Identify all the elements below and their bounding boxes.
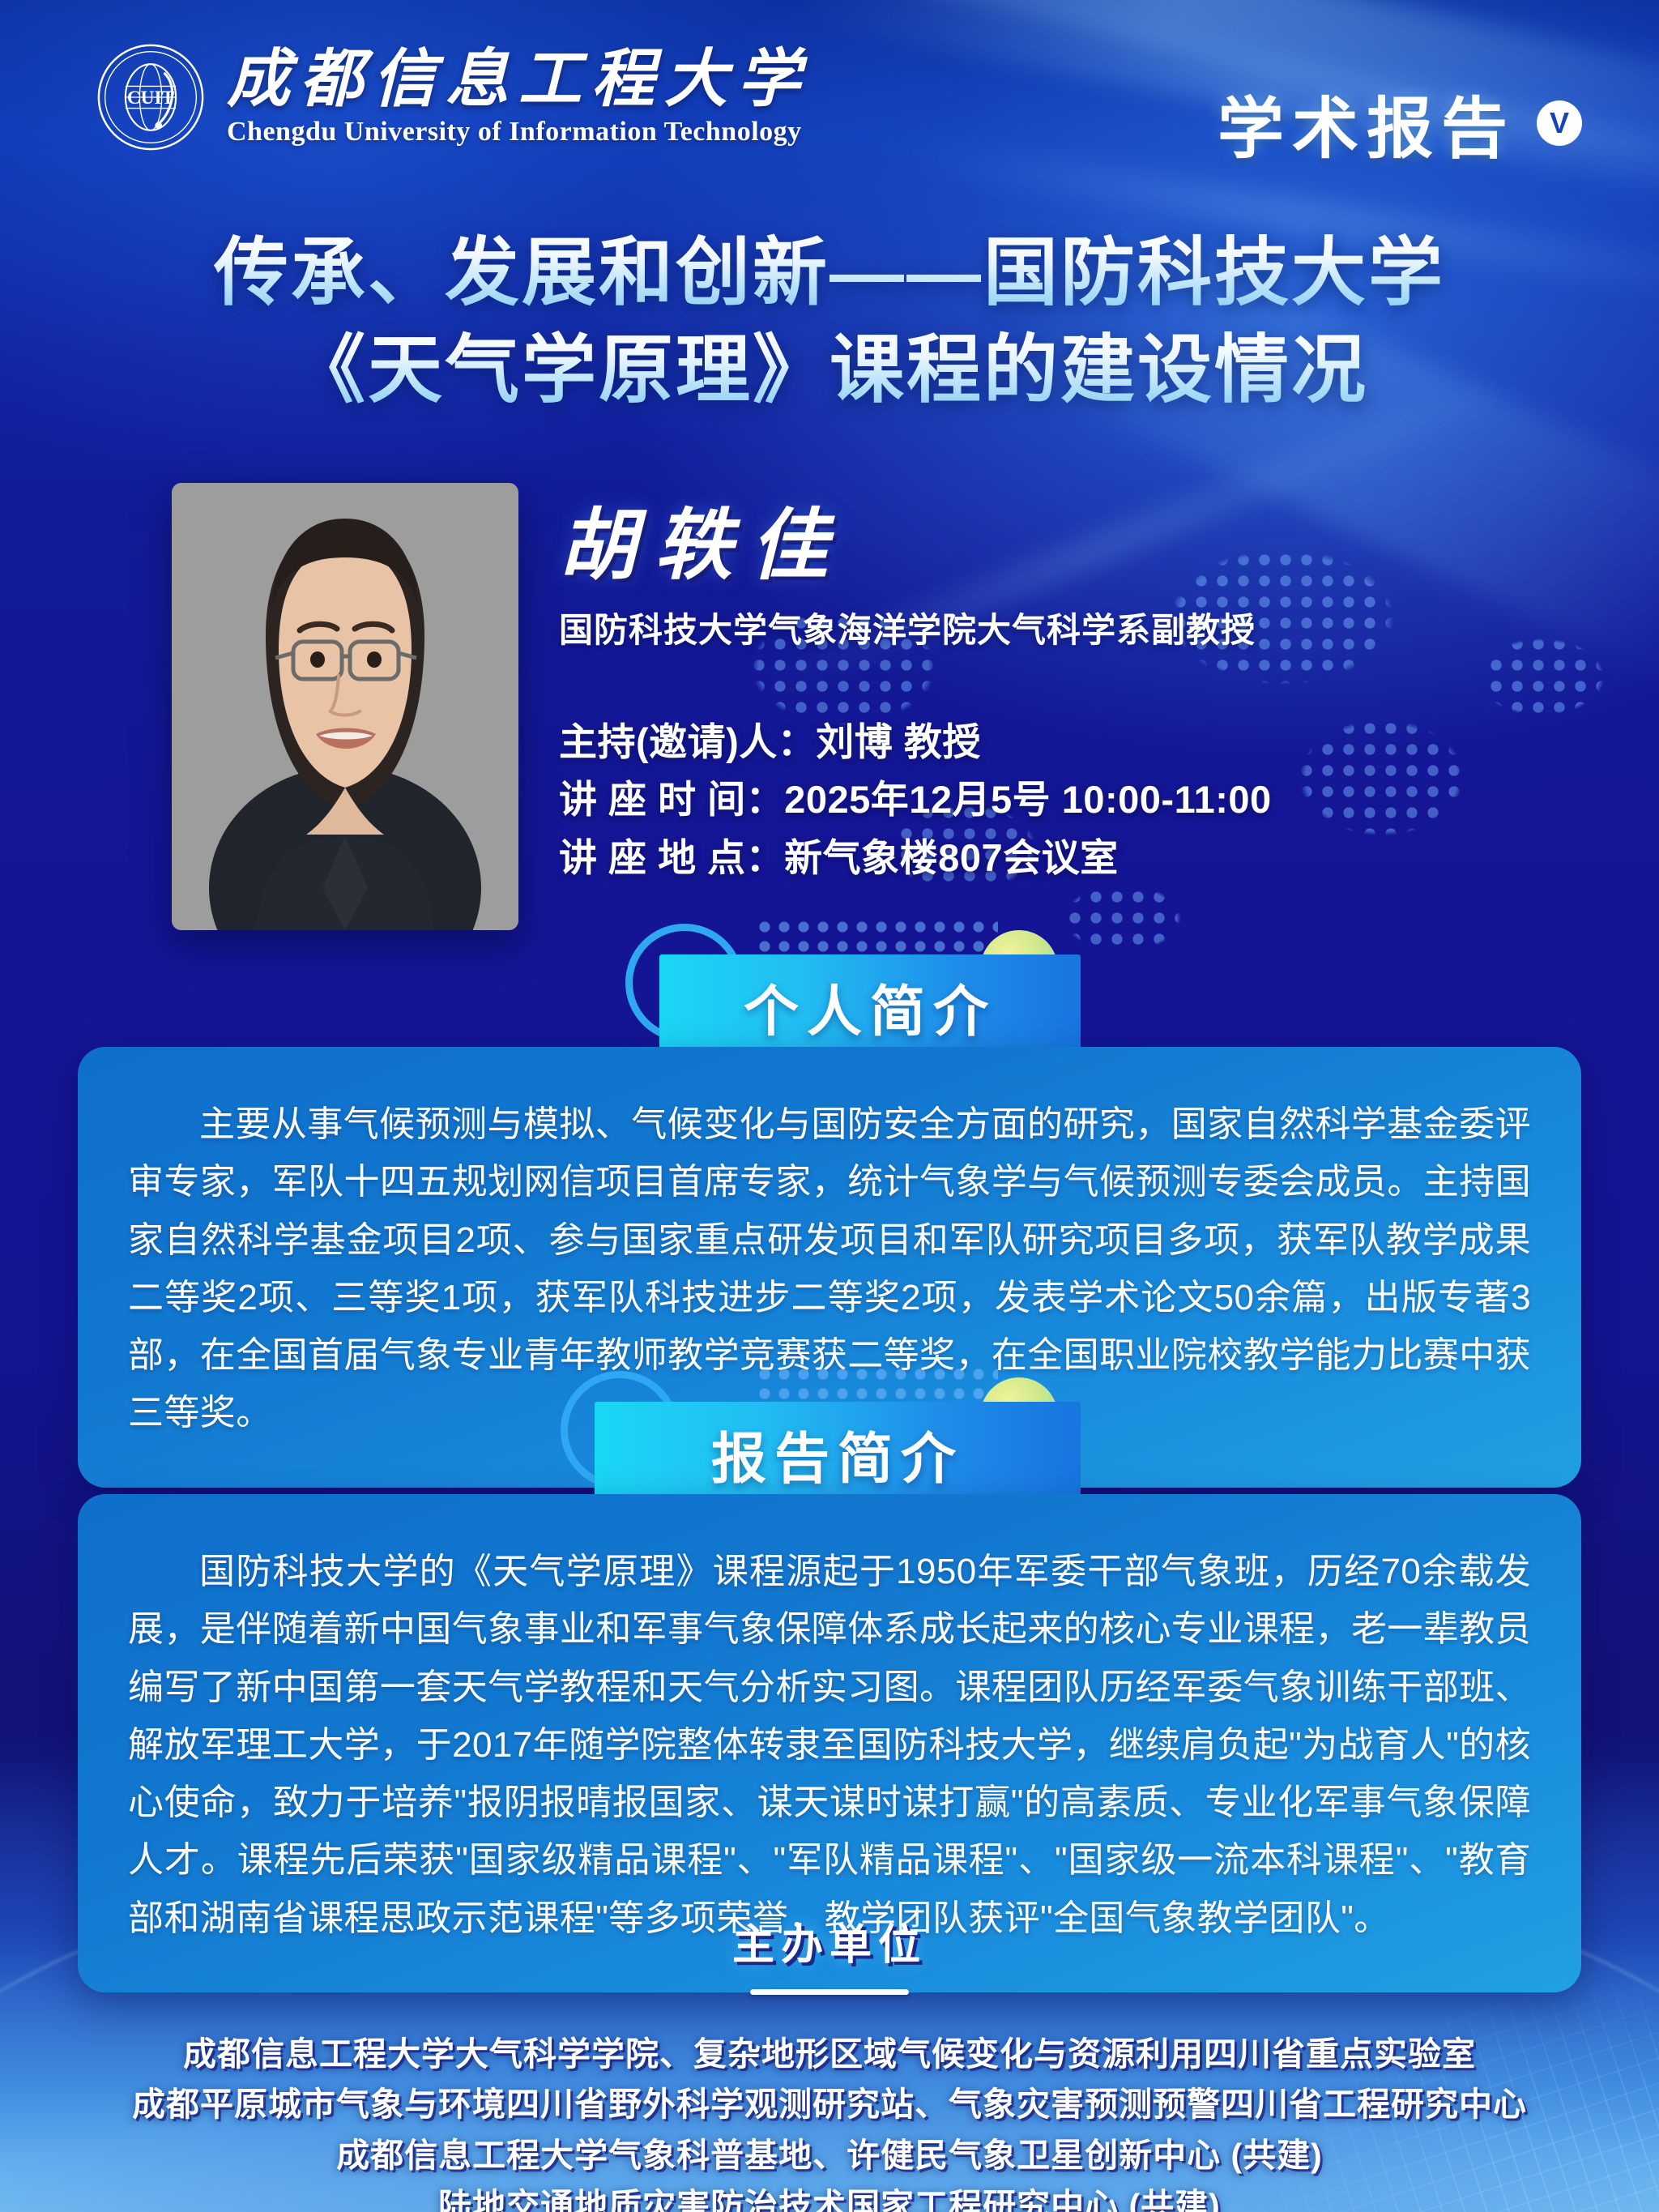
- organizer-line: 成都平原城市气象与环境四川省野外科学观测研究站、气象灾害预测预警四川省工程研究中…: [0, 2079, 1659, 2129]
- speaker-info-block: 胡轶佳 国防科技大学气象海洋学院大气科学系副教授: [559, 502, 1572, 652]
- title-line-2: 《天气学原理》课程的建设情况: [0, 322, 1659, 420]
- lecture-title: 传承、发展和创新——国防科技大学 《天气学原理》课程的建设情况: [0, 225, 1659, 419]
- speaker-photo: [172, 483, 518, 930]
- university-logo-row: CUIT 成都信息工程大学 Chengdu University of Info…: [96, 42, 810, 152]
- abstract-heading-label: 报告简介: [711, 1414, 964, 1494]
- poster-header: CUIT 成都信息工程大学 Chengdu University of Info…: [0, 0, 1659, 207]
- organizers-list: 成都信息工程大学大气科学学院、复杂地形区域气候变化与资源利用四川省重点实验室 成…: [0, 2029, 1659, 2212]
- organizer-line: 陆地交通地质灾害防治技术国家工程研究中心 (共建): [0, 2180, 1659, 2212]
- abstract-section-heading: 报告简介: [561, 1402, 1047, 1505]
- organizers-title: 主办单位: [0, 1911, 1659, 1971]
- poster-footer: 主办单位 成都信息工程大学大气科学学院、复杂地形区域气候变化与资源利用四川省重点…: [0, 1911, 1659, 2212]
- lecture-poster: CUIT 成都信息工程大学 Chengdu University of Info…: [0, 0, 1659, 2212]
- bio-heading-label: 个人简介: [744, 967, 996, 1047]
- university-name-cn: 成都信息工程大学: [227, 47, 810, 112]
- lecture-details: 主持(邀请)人：刘博 教授 讲 座 时 间：2025年12月5号 10:00-1…: [559, 713, 1604, 886]
- bio-section-heading: 个人简介: [625, 954, 1047, 1058]
- organizer-line: 成都信息工程大学气象科普基地、许健民气象卫星创新中心 (共建): [0, 2130, 1659, 2180]
- svg-text:CUIT: CUIT: [127, 88, 175, 109]
- title-line-1: 传承、发展和创新——国防科技大学: [0, 225, 1659, 322]
- organizer-line: 成都信息工程大学大气科学学院、复杂地形区域气候变化与资源利用四川省重点实验室: [0, 2029, 1659, 2079]
- lecture-time: 讲 座 时 间：2025年12月5号 10:00-11:00: [559, 771, 1604, 828]
- lecture-venue: 讲 座 地 点：新气象楼807会议室: [559, 829, 1604, 886]
- heading-bar: 个人简介: [659, 954, 1081, 1058]
- cuit-crest-icon: CUIT: [96, 42, 206, 152]
- heading-bar: 报告简介: [595, 1402, 1081, 1505]
- speaker-affiliation: 国防科技大学气象海洋学院大气科学系副教授: [559, 603, 1572, 652]
- organizers-divider: [750, 1989, 909, 1995]
- academic-report-label: 学术报告: [1218, 75, 1516, 171]
- academic-report-badge: 学术报告 V: [1218, 75, 1582, 171]
- v-circle-icon: V: [1537, 100, 1582, 146]
- speaker-name: 胡轶佳: [559, 502, 1572, 590]
- abstract-text: 国防科技大学的《天气学原理》课程源起于1950年军委干部气象班，历经70余载发展…: [128, 1543, 1531, 1947]
- v-mark-letter: V: [1550, 109, 1569, 138]
- lecture-host: 主持(邀请)人：刘博 教授: [559, 713, 1604, 771]
- university-name-en: Chengdu University of Information Techno…: [227, 117, 810, 147]
- university-name-group: 成都信息工程大学 Chengdu University of Informati…: [227, 47, 810, 147]
